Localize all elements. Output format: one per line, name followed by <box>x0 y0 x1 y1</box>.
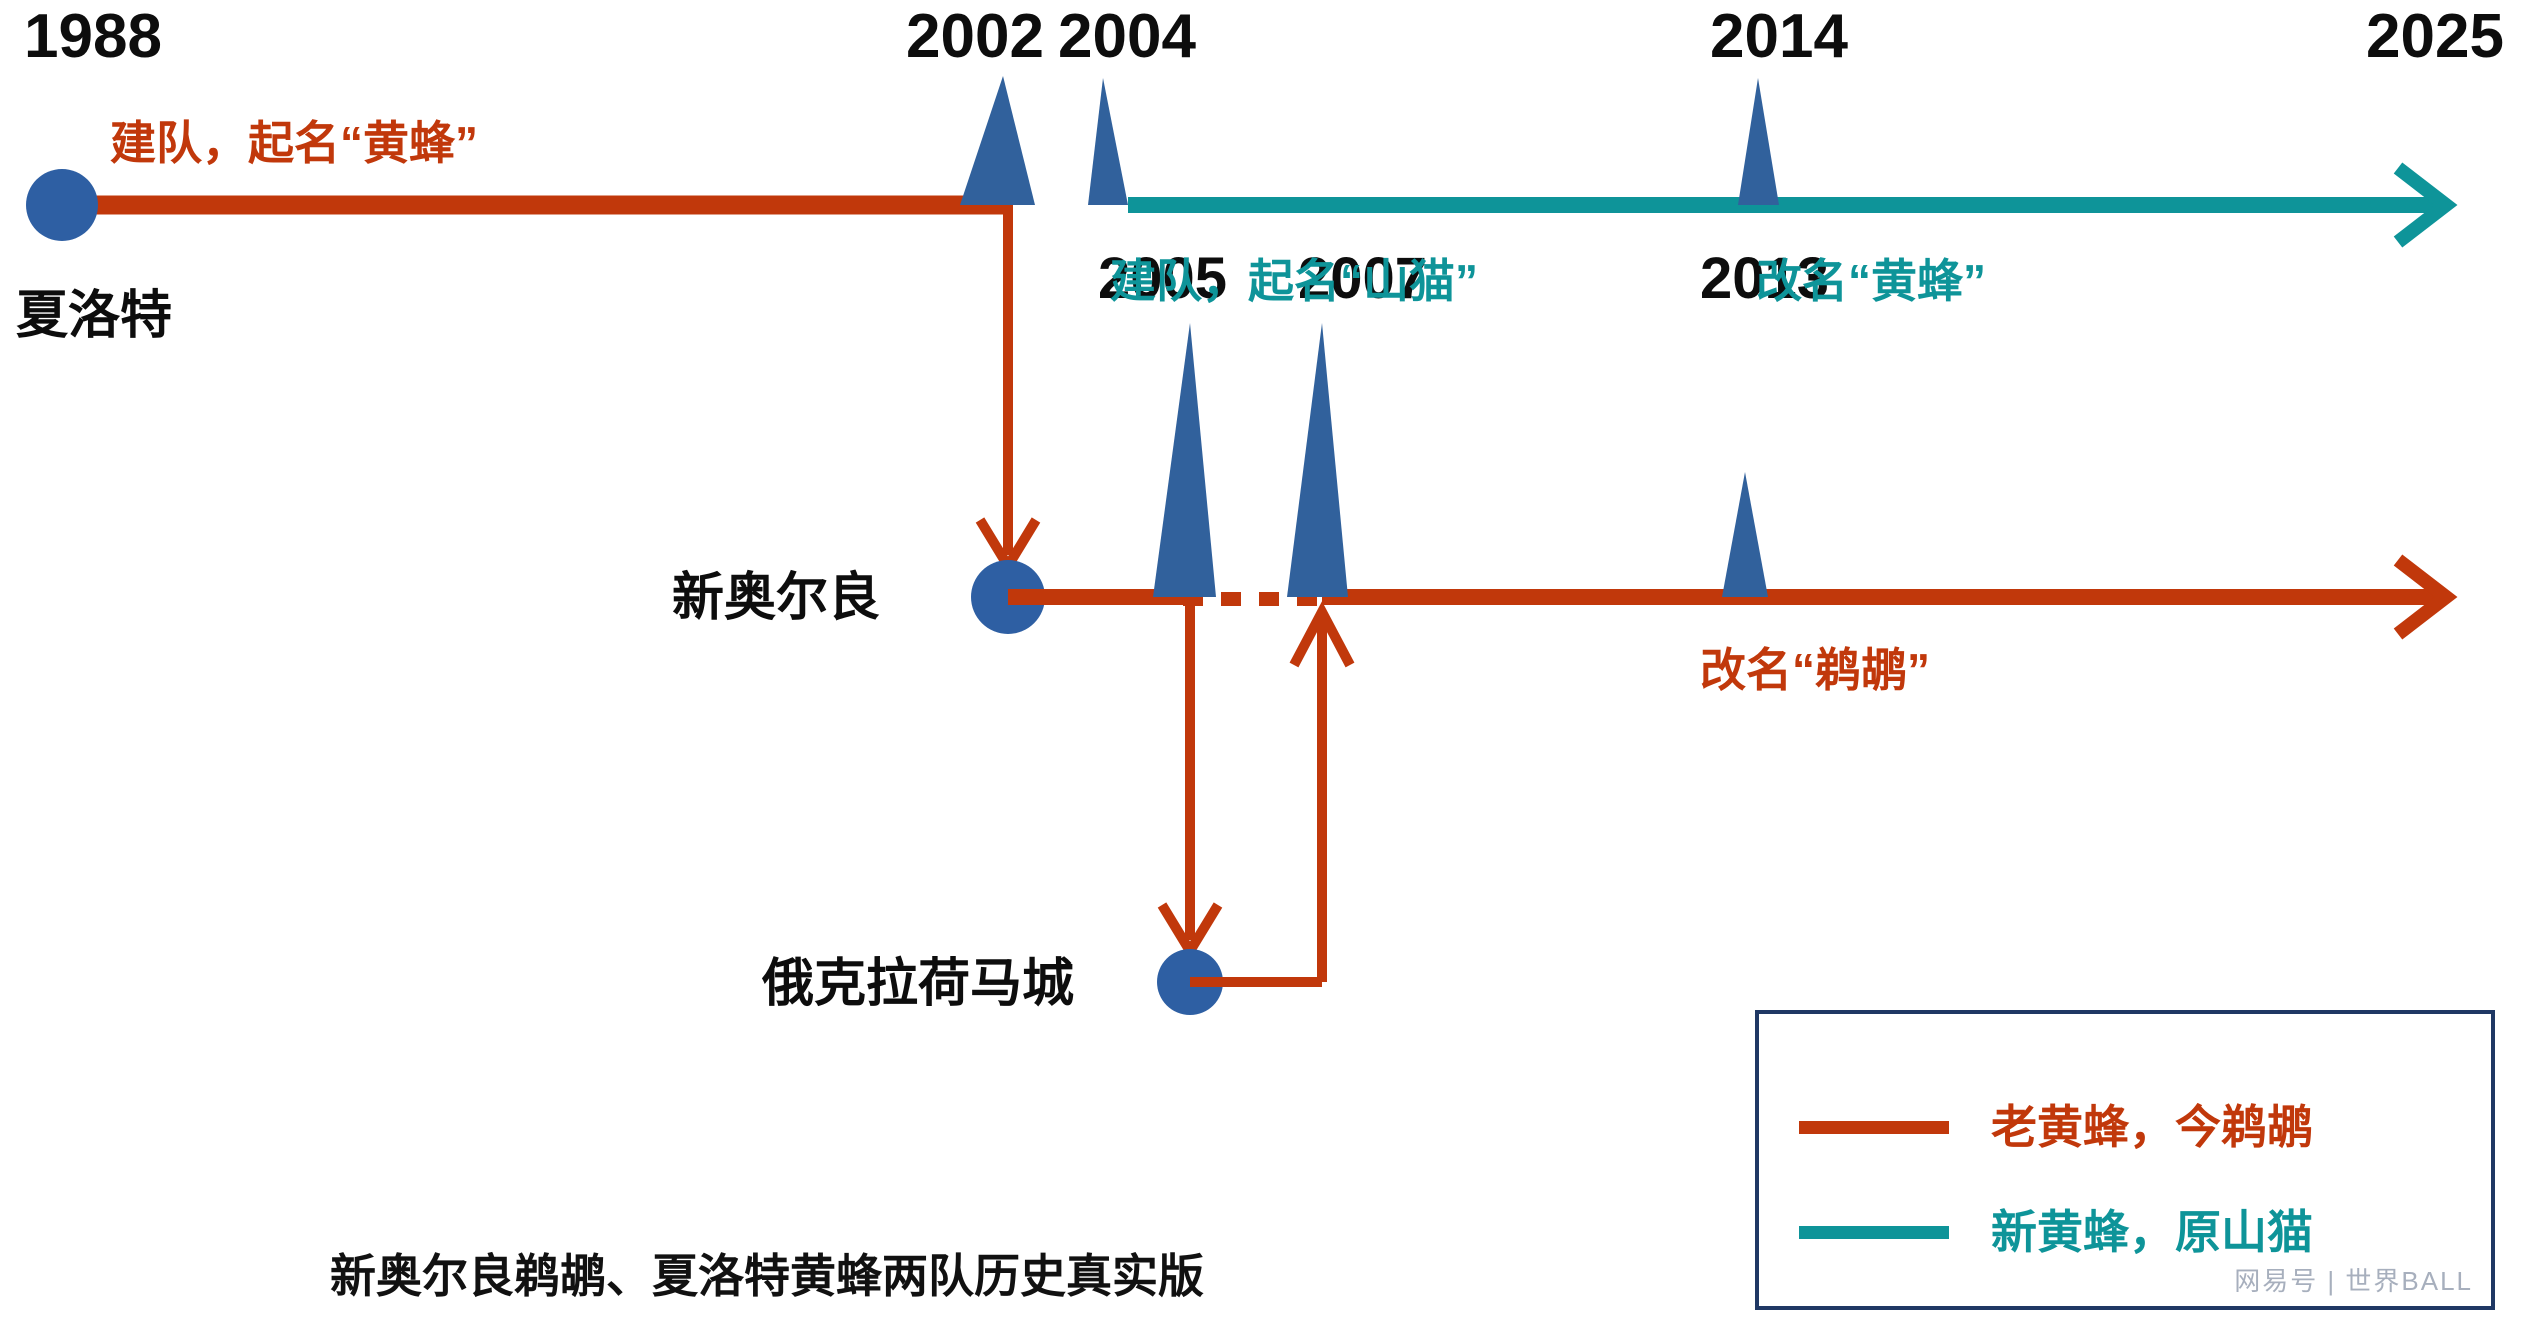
event-founded-hornets: 建队，起名“黄蜂” <box>110 120 478 166</box>
city-label-oklahoma-city: 俄克拉荷马城 <box>762 958 1074 1010</box>
marker-triangle-2005 <box>1153 323 1216 597</box>
charlotte-node-dot <box>26 169 98 241</box>
event-renamed-pelicans: 改名“鹈鹕” <box>1700 647 1930 693</box>
year-label-2002: 2002 <box>906 6 1044 68</box>
diagram-canvas: 1988 2002 2004 2014 2025 2005 2007 2013 … <box>0 0 2529 1331</box>
event-renamed-hornets: 改名“黄蜂” <box>1756 258 1986 304</box>
diagram-caption: 新奥尔良鹈鹕、夏洛特黄蜂两队历史真实版 <box>330 1240 1204 1306</box>
year-label-2025: 2025 <box>2366 6 2504 68</box>
legend-box: 老黄蜂，今鹈鹕 新黄蜂，原山猫 网易号 | 世界BALL <box>1755 1010 2495 1310</box>
year-label-2014: 2014 <box>1710 6 1848 68</box>
year-label-2004: 2004 <box>1058 6 1196 68</box>
marker-triangle-2004 <box>1088 78 1128 205</box>
oklahoma-city-group <box>1157 597 1350 1015</box>
hornets-new-timeline-group <box>1088 78 2446 242</box>
legend-label-new-hornets: 新黄蜂，原山猫 <box>1991 1209 2313 1255</box>
legend-swatch-teal <box>1799 1226 1949 1239</box>
event-founded-bobcats: 建队，起名“山猫” <box>1110 258 1478 304</box>
new-orleans-timeline-group <box>971 323 2446 634</box>
marker-triangle-2014 <box>1738 78 1779 205</box>
legend-swatch-orange <box>1799 1121 1949 1134</box>
city-label-new-orleans: 新奥尔良 <box>672 572 880 624</box>
legend-label-old-hornets: 老黄蜂，今鹈鹕 <box>1991 1104 2313 1150</box>
marker-triangle-2013 <box>1722 472 1768 597</box>
marker-triangle-2002 <box>960 76 1035 205</box>
watermark: 网易号 | 世界BALL <box>2234 1261 2473 1298</box>
marker-triangle-2007 <box>1287 323 1348 597</box>
year-label-1988: 1988 <box>24 6 162 68</box>
legend-row-new-hornets: 新黄蜂，原山猫 <box>1799 1209 2313 1255</box>
city-label-charlotte: 夏洛特 <box>16 290 172 342</box>
legend-row-old-hornets: 老黄蜂，今鹈鹕 <box>1799 1104 2313 1150</box>
